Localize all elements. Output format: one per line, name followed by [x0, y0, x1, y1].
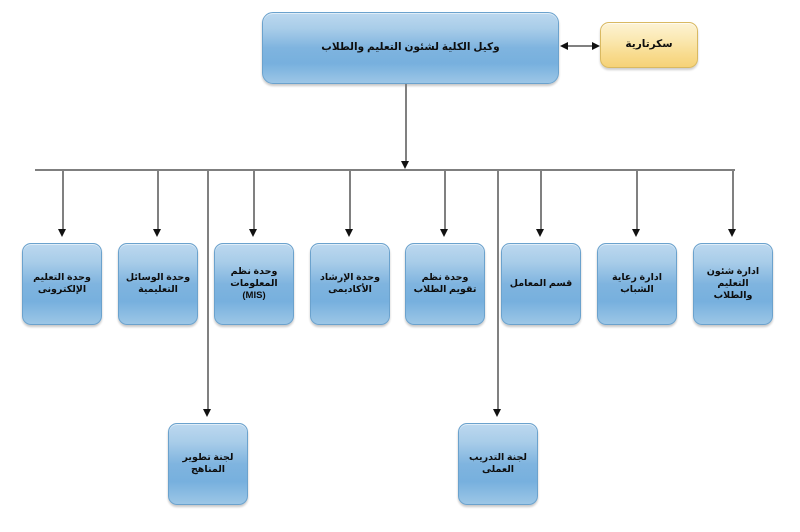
- arrowhead-committee-1-icon: [203, 409, 211, 417]
- connector-bus-to-unit-4: [349, 171, 351, 231]
- arrowhead-unit-5-icon: [440, 229, 448, 237]
- node-vice-dean-label: وكيل الكلية لشئون التعليم والطلاب: [267, 41, 554, 54]
- connector-bus-to-unit-8: [732, 171, 734, 231]
- node-unit-youth-welfare[interactable]: ادارة رعاية الشباب: [597, 243, 677, 325]
- node-unit-student-assessment[interactable]: وحدة نظم تقويم الطلاب: [405, 243, 485, 325]
- connector-root-to-bus: [405, 84, 407, 163]
- node-vice-dean[interactable]: وكيل الكلية لشئون التعليم والطلاب: [262, 12, 559, 84]
- node-unit-mis-label: وحدة نظم المعلومات (MIS): [219, 266, 289, 302]
- arrowhead-unit-1-icon: [58, 229, 66, 237]
- node-unit-mis[interactable]: وحدة نظم المعلومات (MIS): [214, 243, 294, 325]
- node-unit-youth-welfare-label: ادارة رعاية الشباب: [602, 272, 672, 296]
- node-unit-elearning-label: وحدة التعليم الإلكترونى: [27, 272, 97, 296]
- node-unit-academic-advising-label: وحدة الإرشاد الأكاديمى: [315, 272, 385, 296]
- node-secretariat[interactable]: سكرتارية: [600, 22, 698, 68]
- node-unit-education-student-affairs-label: ادارة شئون التعليم والطلاب: [698, 266, 768, 302]
- node-unit-teaching-aids-label: وحدة الوسائل التعليمية: [123, 272, 193, 296]
- arrowhead-unit-4-icon: [345, 229, 353, 237]
- arrowhead-unit-2-icon: [153, 229, 161, 237]
- connector-bus-to-unit-7: [636, 171, 638, 231]
- connector-bus-to-committee-1: [207, 171, 209, 411]
- node-unit-student-assessment-label: وحدة نظم تقويم الطلاب: [410, 272, 480, 296]
- connector-horizontal-bus: [35, 169, 735, 171]
- node-committee-curriculum-development-label: لجنة تطوير المناهج: [173, 452, 243, 476]
- node-unit-education-student-affairs[interactable]: ادارة شئون التعليم والطلاب: [693, 243, 773, 325]
- arrowhead-to-root-icon: [560, 42, 568, 50]
- node-unit-academic-advising[interactable]: وحدة الإرشاد الأكاديمى: [310, 243, 390, 325]
- node-unit-laboratories-label: قسم المعامل: [506, 278, 576, 290]
- arrowhead-unit-8-icon: [728, 229, 736, 237]
- connector-bus-to-committee-2: [497, 171, 499, 411]
- arrowhead-unit-6-icon: [536, 229, 544, 237]
- node-unit-laboratories[interactable]: قسم المعامل: [501, 243, 581, 325]
- node-secretariat-label: سكرتارية: [605, 38, 693, 51]
- node-committee-practical-training[interactable]: لجنة التدريب العملى: [458, 423, 538, 505]
- node-committee-practical-training-label: لجنة التدريب العملى: [463, 452, 533, 476]
- connector-bus-to-unit-3: [253, 171, 255, 231]
- arrowhead-to-secretariat-icon: [592, 42, 600, 50]
- connector-bus-to-unit-6: [540, 171, 542, 231]
- node-unit-teaching-aids[interactable]: وحدة الوسائل التعليمية: [118, 243, 198, 325]
- org-chart-canvas: وكيل الكلية لشئون التعليم والطلاب سكرتار…: [0, 0, 800, 532]
- arrowhead-root-to-bus-icon: [401, 161, 409, 169]
- connector-bus-to-unit-1: [62, 171, 64, 231]
- node-committee-curriculum-development[interactable]: لجنة تطوير المناهج: [168, 423, 248, 505]
- arrowhead-unit-3-icon: [249, 229, 257, 237]
- node-unit-elearning[interactable]: وحدة التعليم الإلكترونى: [22, 243, 102, 325]
- arrowhead-committee-2-icon: [493, 409, 501, 417]
- arrowhead-unit-7-icon: [632, 229, 640, 237]
- connector-bus-to-unit-5: [444, 171, 446, 231]
- connector-bus-to-unit-2: [157, 171, 159, 231]
